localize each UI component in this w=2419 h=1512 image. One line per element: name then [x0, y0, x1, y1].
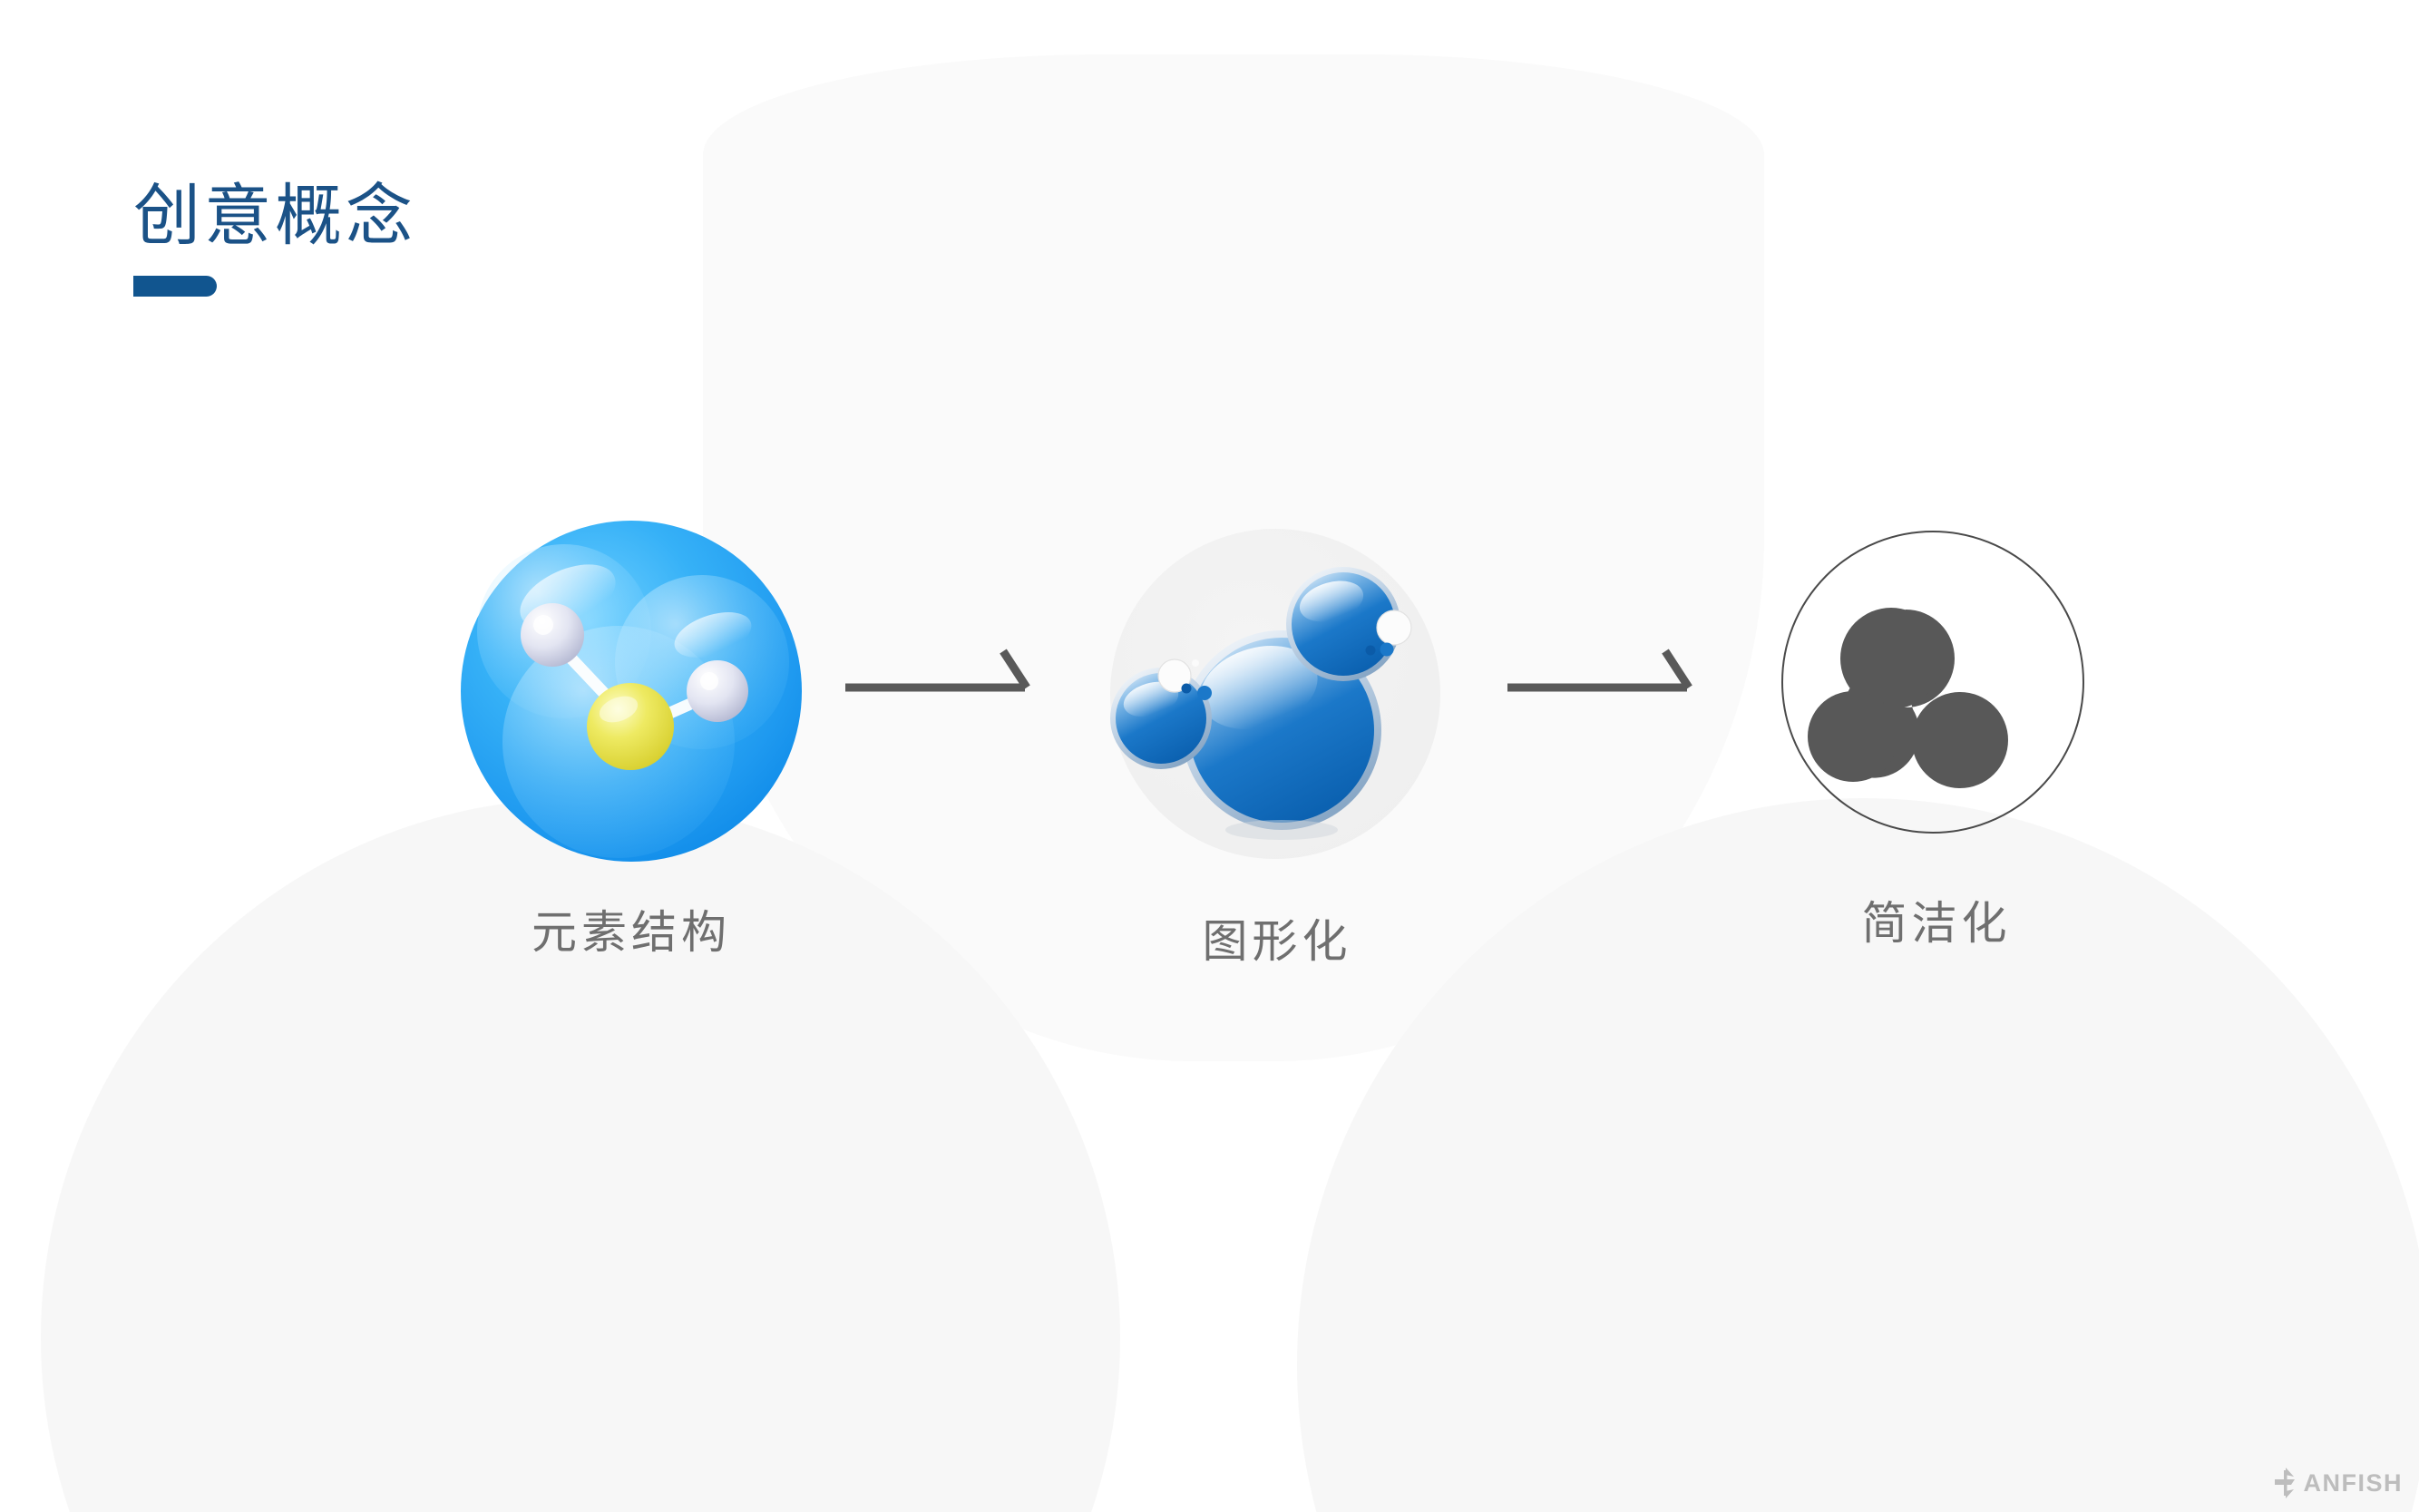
step-3-label: 简洁化: [1746, 887, 2127, 952]
step-1-illustration: [441, 499, 822, 880]
step-2-illustration: [1087, 508, 1468, 889]
page-title: 创意概念: [133, 180, 416, 252]
watermark-text: ANFISH: [2304, 1469, 2404, 1497]
process-steps: 元素结构: [0, 490, 2419, 998]
arrow-step2-to-step3: [1506, 635, 1732, 721]
panfish-logo-icon: [2273, 1465, 2302, 1501]
step-2-label: 图形化: [1087, 905, 1468, 971]
step-item-3: 简洁化: [1746, 490, 2127, 952]
slide-canvas: 创意概念: [0, 0, 2419, 1512]
watermark: ANFISH: [2273, 1465, 2404, 1501]
step-item-1: 元素结构: [441, 499, 822, 961]
step-item-2: 图形化: [1087, 508, 1468, 971]
step-1-label: 元素结构: [441, 896, 822, 961]
title-accent-bar: [133, 276, 217, 297]
arrow-step1-to-step2: [844, 635, 1070, 721]
step-3-illustration: [1746, 490, 2127, 871]
arrow-right-icon: [844, 635, 1070, 717]
flat-gray-molecule-glyph-icon: [1746, 490, 2127, 871]
title-block: 创意概念: [133, 180, 416, 297]
glossy-blue-molecule-icon: [1087, 508, 1468, 889]
arrow-right-icon: [1506, 635, 1732, 717]
translucent-blue-molecule-sphere-icon: [441, 499, 822, 880]
